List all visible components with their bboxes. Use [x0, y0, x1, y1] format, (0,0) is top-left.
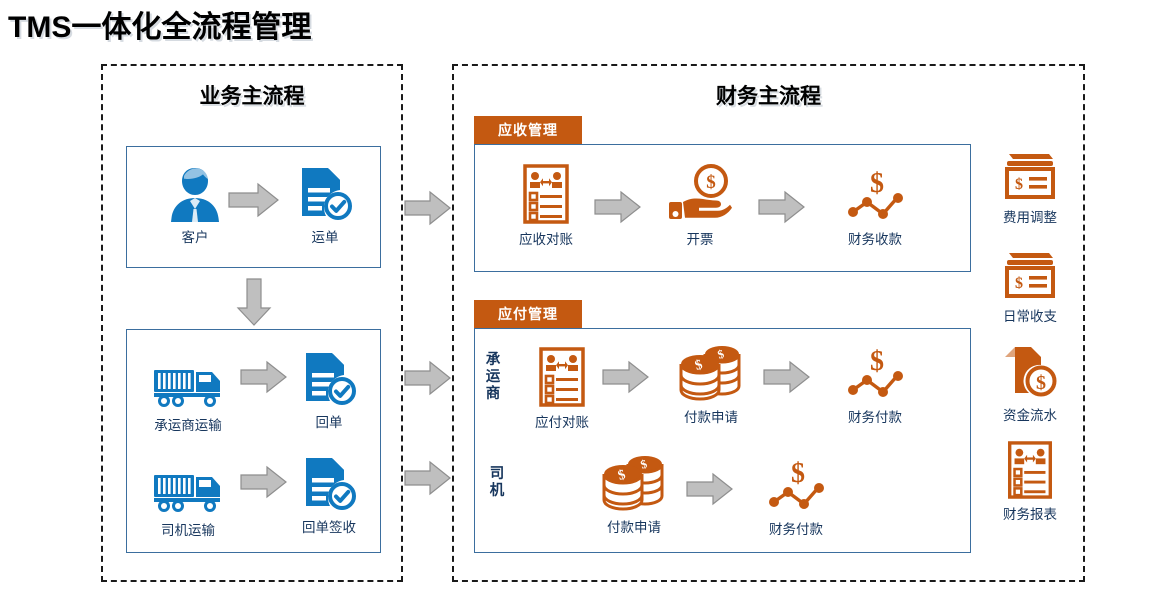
- svg-text:$: $: [870, 168, 884, 199]
- node-payment-request-driver[interactable]: $ $ 付款申请: [580, 450, 688, 536]
- reconciliation-checklist-icon: [978, 443, 1082, 499]
- node-payment-request-carrier[interactable]: $ $ 付款申请: [657, 340, 765, 426]
- arrow-right-icon: [763, 360, 811, 394]
- node-driver-transport[interactable]: 司机运输: [134, 453, 242, 539]
- arrow-right-icon: [404, 190, 452, 226]
- dollar-trend-icon: $: [742, 452, 850, 514]
- hand-coin-icon: $: [646, 162, 754, 224]
- side-item-label: 资金流水: [978, 404, 1082, 424]
- coin-stack-icon: $ $: [657, 340, 765, 402]
- node-finance-receipt[interactable]: $ 财务收款: [821, 162, 929, 248]
- side-item-financial-report[interactable]: 财务报表: [978, 443, 1082, 523]
- node-label: 回单签收: [275, 516, 383, 536]
- reconciliation-checklist-icon: [492, 162, 600, 224]
- arrow-right-icon: [404, 360, 452, 396]
- node-invoicing[interactable]: $ 开票: [646, 162, 754, 248]
- arrow-right-icon: [594, 190, 642, 224]
- truck-icon: [134, 348, 242, 410]
- node-label: 付款申请: [580, 516, 688, 536]
- dollar-trend-icon: $: [821, 340, 929, 402]
- node-label: 司机运输: [134, 519, 242, 539]
- document-dollar-icon: $: [978, 344, 1082, 400]
- coin-stack-icon: $ $: [580, 450, 688, 512]
- node-label: 财务收款: [821, 228, 929, 248]
- node-label: 承运商运输: [134, 414, 242, 434]
- finance-panel-title: 财务主流程: [454, 80, 1083, 110]
- side-item-label: 费用调整: [978, 206, 1082, 226]
- node-label: 运单: [271, 226, 379, 246]
- tab-receivable-management[interactable]: 应收管理: [474, 116, 582, 144]
- node-receipt-signed[interactable]: 回单签收: [275, 450, 383, 536]
- side-item-label: 日常收支: [978, 305, 1082, 325]
- side-item-expense-adjustment[interactable]: $ 费用调整: [978, 146, 1082, 226]
- svg-text:$: $: [1015, 275, 1023, 292]
- diagram-canvas: TMS一体化全流程管理 业务主流程 客户: [0, 0, 1150, 602]
- node-label: 付款申请: [657, 406, 765, 426]
- row-label-driver: 司机: [488, 466, 506, 500]
- business-panel-title: 业务主流程: [103, 80, 401, 110]
- svg-text:$: $: [791, 458, 805, 489]
- svg-text:$: $: [1015, 176, 1023, 193]
- invoice-bill-icon: $: [978, 245, 1082, 301]
- side-item-label: 财务报表: [978, 503, 1082, 523]
- row-label-text: 司机: [488, 466, 506, 500]
- tab-label: 应收管理: [498, 120, 558, 140]
- row-label-carrier: 承运商: [484, 352, 502, 403]
- truck-icon: [134, 453, 242, 515]
- node-payable-reconciliation[interactable]: 应付对账: [508, 345, 616, 431]
- arrow-right-icon: [404, 460, 452, 496]
- node-label: 开票: [646, 228, 754, 248]
- node-waybill[interactable]: 运单: [271, 160, 379, 246]
- tab-payable-management[interactable]: 应付管理: [474, 300, 582, 328]
- node-receipt[interactable]: 回单: [275, 345, 383, 431]
- dollar-trend-icon: $: [821, 162, 929, 224]
- node-label: 应付对账: [508, 411, 616, 431]
- svg-text:$: $: [870, 346, 884, 377]
- arrow-right-icon: [686, 472, 734, 506]
- node-receivable-reconciliation[interactable]: 应收对账: [492, 162, 600, 248]
- node-label: 客户: [141, 226, 249, 246]
- invoice-bill-icon: $: [978, 146, 1082, 202]
- document-check-icon: [271, 160, 379, 222]
- svg-text:$: $: [1036, 372, 1046, 394]
- tab-label: 应付管理: [498, 304, 558, 324]
- node-finance-payment-driver[interactable]: $ 财务付款: [742, 452, 850, 538]
- svg-text:$: $: [706, 172, 716, 193]
- side-item-daily-income-expense[interactable]: $ 日常收支: [978, 245, 1082, 325]
- arrow-down-icon: [236, 278, 272, 326]
- node-carrier-transport[interactable]: 承运商运输: [134, 348, 242, 434]
- node-label: 财务付款: [742, 518, 850, 538]
- page-title: TMS一体化全流程管理: [8, 2, 311, 46]
- document-check-icon: [275, 450, 383, 512]
- arrow-right-icon: [758, 190, 806, 224]
- document-check-icon: [275, 345, 383, 407]
- node-label: 财务付款: [821, 406, 929, 426]
- node-finance-payment-carrier[interactable]: $ 财务付款: [821, 340, 929, 426]
- side-item-fund-flow[interactable]: $ 资金流水: [978, 344, 1082, 424]
- row-label-text: 承运商: [484, 352, 502, 403]
- node-label: 回单: [275, 411, 383, 431]
- reconciliation-checklist-icon: [508, 345, 616, 407]
- arrow-right-icon: [602, 360, 650, 394]
- node-label: 应收对账: [492, 228, 600, 248]
